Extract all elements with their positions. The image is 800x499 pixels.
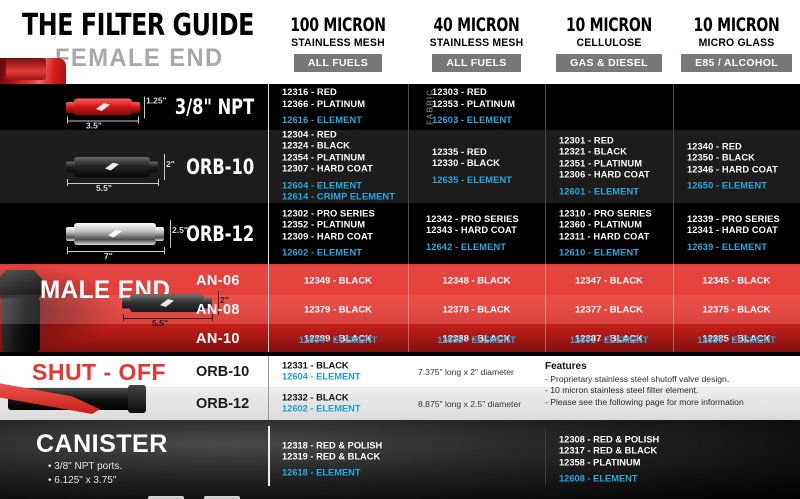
part-code-element: 12604 - ELEMENT: [282, 181, 395, 193]
part-code: 12347 - BLACK: [545, 275, 673, 286]
part-code: 12304 - RED: [282, 129, 395, 141]
element-cell-10-micron-micro-glass: 12650 - ELEMENT: [673, 335, 800, 352]
an08-row-content: AN-08 12379 - BLACK 12378 - BLACK 12377 …: [0, 295, 800, 324]
part-code-element: 12639 - ELEMENT: [687, 242, 780, 254]
column-material-label: STAINLESS MESH: [411, 37, 541, 49]
column-fuel-badge: ALL FUELS: [294, 54, 382, 72]
feature-item: - Please see the following page for more…: [545, 397, 744, 408]
column-micron-label: 10 MICRON: [557, 14, 662, 36]
features-block: Features - Proprietary stainless steel s…: [545, 361, 744, 408]
column-micron-label: 100 MICRON: [281, 14, 396, 36]
spec-item: • 3/8" NPT ports.: [48, 460, 122, 474]
column-micron-label: 40 MICRON: [420, 14, 532, 36]
part-code: 12318 - RED & POLISH: [282, 440, 382, 452]
column-header-40-micron: 40 MICRON STAINLESS MESH ALL FUELS: [408, 14, 545, 72]
dimension-diameter: 1.25": [146, 96, 167, 106]
part-code: 12350 - BLACK: [687, 152, 778, 164]
part-code: 12342 - PRO SERIES: [426, 214, 519, 226]
part-cell-100-micron: 12316 - RED 12366 - PLATINUM 12616 - ELE…: [268, 84, 408, 130]
male-element-row: 12604 - ELEMENT 12635 - ELEMENT 12601 - …: [0, 335, 800, 352]
product-cell: 3.5" 1.25" 3/8" NPT: [66, 84, 268, 130]
part-code: 12330 - BLACK: [432, 158, 512, 170]
part-cell-40-micron: 12348 - BLACK: [408, 266, 545, 295]
part-cell-10-micron-micro-glass: 12375 - BLACK: [673, 295, 800, 324]
canister-section: CANISTER • 3/8" NPT ports. • 6.125" x 3.…: [0, 420, 800, 499]
part-cell-shutoff: 12332 - BLACK 12602 - ELEMENT: [282, 392, 361, 415]
column-header-100-micron: 100 MICRON STAINLESS MESH ALL FUELS: [268, 14, 408, 72]
features-title: Features: [545, 361, 744, 372]
part-code-element: 12602 - ELEMENT: [282, 404, 361, 415]
filter-diagram-orb12: 7" 2.5": [74, 223, 156, 245]
page-header: THE FILTER GUIDE FEMALE END 100 MICRON S…: [0, 0, 800, 84]
part-code: 12321 - BLACK: [559, 147, 650, 159]
filter-guide-sheet: THE FILTER GUIDE FEMALE END 100 MICRON S…: [0, 0, 800, 499]
part-code-element: 12604 - ELEMENT: [268, 335, 408, 345]
part-code: 12360 - PLATINUM: [559, 219, 652, 231]
spec-item: • 6.125" x 3.75": [48, 474, 122, 488]
part-code-element: 12650 - ELEMENT: [687, 181, 778, 193]
part-code: 12317 - RED & BLACK: [559, 446, 659, 458]
part-code-element: 12601 - ELEMENT: [559, 186, 650, 198]
part-code-element: 12642 - ELEMENT: [426, 242, 519, 254]
element-cell-10-micron-cellulose: 12601 - ELEMENT: [545, 335, 673, 352]
column-header-10-micron-cellulose: 10 MICRON CELLULOSE GAS & DIESEL: [545, 14, 673, 72]
part-code-element: 12603 - ELEMENT: [432, 115, 515, 127]
column-fuel-badge: ALL FUELS: [432, 54, 520, 72]
part-code-element: 12635 - ELEMENT: [408, 335, 545, 345]
male-end-section: MALE END 5.5" 2" AN-06 12349 - BLACK 123…: [0, 264, 800, 352]
dimension-length: 5.5": [96, 183, 112, 193]
size-label: ORB-12: [196, 396, 249, 412]
part-code-element: 12616 - ELEMENT: [282, 115, 365, 127]
product-cell: 5.5" 2" ORB-10: [66, 130, 268, 203]
part-code: 12345 - BLACK: [673, 275, 800, 286]
size-label: AN-06: [196, 273, 240, 289]
part-code: 12377 - BLACK: [545, 304, 673, 315]
part-cell-40-micron: 12378 - BLACK: [408, 295, 545, 324]
table-row-orb10: 5.5" 2" ORB-10 12304 - RED 12324 - BLACK…: [0, 130, 800, 203]
part-code: 12316 - RED: [282, 87, 365, 99]
column-fuel-badge: E85 / ALCOHOL: [681, 54, 792, 72]
part-code-element: 12602 - ELEMENT: [282, 248, 375, 260]
part-code: 12306 - HARD COAT: [559, 170, 650, 182]
shutoff-section: SHUT - OFF ORB-10 12331 - BLACK 12604 - …: [0, 352, 800, 420]
part-code-element: 12650 - ELEMENT: [673, 335, 800, 345]
part-cell-100-micron: 12318 - RED & POLISH 12319 - RED & BLACK…: [268, 420, 408, 499]
part-cell-40-micron: 12342 - PRO SERIES 12343 - HARD COAT 126…: [408, 203, 545, 264]
column-material-label: STAINLESS MESH: [272, 37, 405, 49]
part-code: 12303 - RED: [432, 87, 515, 99]
feature-item: - Proprietary stainless steel shutoff va…: [545, 374, 744, 385]
dimension-length: 7": [104, 251, 113, 261]
part-code-element: 12610 - ELEMENT: [559, 248, 652, 260]
part-cell-10-micron-cellulose: 12377 - BLACK: [545, 295, 673, 324]
filter-diagram-npt: 3.5" 1.25": [74, 99, 132, 116]
table-row-npt: 3.5" 1.25" 3/8" NPT 12316 - RED 12366 - …: [0, 84, 800, 130]
part-cell-40-micron: FABRIC 12303 - RED 12353 - PLATINUM 1260…: [408, 84, 545, 130]
an06-row-content: AN-06 12349 - BLACK 12348 - BLACK 12347 …: [0, 266, 800, 295]
female-end-subtitle: FEMALE END: [55, 44, 224, 73]
part-code: 12331 - BLACK: [282, 360, 361, 371]
filter-diagram-orb10: 5.5" 2": [74, 157, 150, 177]
part-cell-100-micron: 12302 - PRO SERIES 12352 - PLATINUM 1230…: [268, 203, 408, 264]
canister-specs: • 3/8" NPT ports. • 6.125" x 3.75": [48, 460, 122, 487]
part-cell-100-micron: 12304 - RED 12324 - BLACK 12354 - PLATIN…: [268, 130, 408, 203]
part-code-element: 12604 - ELEMENT: [282, 372, 361, 383]
part-code-element: 12618 - ELEMENT: [282, 467, 382, 479]
part-code: 12309 - HARD COAT: [282, 231, 375, 243]
part-cell-10-micron-cellulose: 12308 - RED & POLISH 12317 - RED & BLACK…: [545, 420, 673, 499]
product-name: ORB-10: [186, 155, 254, 179]
column-header-10-micron-micro-glass: 10 MICRON MICRO GLASS E85 / ALCOHOL: [673, 14, 800, 72]
part-code: 12346 - HARD COAT: [687, 164, 778, 176]
product-name: 3/8" NPT: [175, 95, 254, 119]
part-code: 12352 - PLATINUM: [282, 219, 375, 231]
part-cell-10-micron-cellulose: 12347 - BLACK: [545, 266, 673, 295]
female-end-section: 3.5" 1.25" 3/8" NPT 12316 - RED 12366 - …: [0, 84, 800, 264]
product-cell: 7" 2.5" ORB-12: [66, 203, 268, 264]
table-row-orb12: 7" 2.5" ORB-12 12302 - PRO SERIES 12352 …: [0, 203, 800, 264]
size-label: ORB-10: [196, 364, 249, 380]
part-code: 12308 - RED & POLISH: [559, 434, 659, 446]
part-code: 12302 - PRO SERIES: [282, 208, 375, 220]
part-cell-10-micron-micro-glass: 12345 - BLACK: [673, 266, 800, 295]
part-code: 12311 - HARD COAT: [559, 231, 652, 243]
part-code: 12343 - HARD COAT: [426, 225, 519, 237]
page-title: THE FILTER GUIDE: [22, 8, 254, 43]
part-code: 12351 - PLATINUM: [559, 158, 650, 170]
part-cell-10-micron-cellulose: 12301 - RED 12321 - BLACK 12351 - PLATIN…: [545, 130, 673, 203]
column-micron-label: 10 MICRON: [684, 14, 788, 36]
part-cell-40-micron: 12335 - RED 12330 - BLACK 12635 - ELEMEN…: [408, 130, 545, 203]
part-code: 12332 - BLACK: [282, 392, 361, 403]
part-code: 12379 - BLACK: [268, 304, 408, 315]
part-code: 12366 - PLATINUM: [282, 99, 365, 111]
size-label: AN-08: [196, 302, 240, 318]
part-cell-10-micron-micro-glass: [673, 84, 800, 130]
part-code: 12310 - PRO SERIES: [559, 208, 652, 220]
part-code-element: 12635 - ELEMENT: [432, 175, 512, 187]
product-name: ORB-12: [186, 222, 254, 246]
part-code-element: 12608 - ELEMENT: [559, 473, 659, 485]
column-fuel-badge: GAS & DIESEL: [556, 54, 662, 72]
part-code: 12349 - BLACK: [268, 275, 408, 286]
part-code: 12319 - RED & BLACK: [282, 452, 382, 464]
element-cell-100-micron: 12604 - ELEMENT: [268, 335, 408, 352]
part-code: 12348 - BLACK: [408, 275, 545, 286]
part-code: 12324 - BLACK: [282, 141, 395, 153]
part-code: 12375 - BLACK: [673, 304, 800, 315]
part-cell-shutoff: 12331 - BLACK 12604 - ELEMENT: [282, 360, 361, 383]
part-cell-10-micron-cellulose: 12310 - PRO SERIES 12360 - PLATINUM 1231…: [545, 203, 673, 264]
part-code: 12335 - RED: [432, 147, 512, 159]
dimension-text: 7.375" long x 2" diameter: [418, 367, 514, 377]
part-cell-100-micron: 12379 - BLACK: [268, 295, 408, 324]
part-code: 12340 - RED: [687, 141, 778, 153]
part-cell-10-micron-micro-glass: 12339 - PRO SERIES 12341 - HARD COAT 126…: [673, 203, 800, 264]
part-code: 12341 - HARD COAT: [687, 225, 780, 237]
part-cell-10-micron-cellulose: [545, 84, 673, 130]
part-cell-100-micron: 12349 - BLACK: [268, 266, 408, 295]
dimension-diameter: 2": [166, 159, 175, 169]
part-code: 12339 - PRO SERIES: [687, 214, 780, 226]
part-code: 12358 - PLATINUM: [559, 458, 659, 470]
dimension-text: 8.875" long x 2.5" diameter: [418, 399, 521, 409]
column-material-label: MICRO GLASS: [676, 37, 797, 49]
part-code-element: 12601 - ELEMENT: [545, 335, 673, 345]
part-code: 12378 - BLACK: [408, 304, 545, 315]
part-code: 12301 - RED: [559, 135, 650, 147]
part-cell-10-micron-micro-glass: 12340 - RED 12350 - BLACK 12346 - HARD C…: [673, 130, 800, 203]
part-code: 12353 - PLATINUM: [432, 99, 515, 111]
part-code: 12307 - HARD COAT: [282, 164, 395, 176]
dimension-length: 3.5": [86, 121, 102, 131]
column-material-label: CELLULOSE: [548, 37, 670, 49]
feature-item: - 10 micron stainless steel filter eleme…: [545, 385, 744, 396]
part-code: 12354 - PLATINUM: [282, 152, 395, 164]
element-cell-40-micron: 12635 - ELEMENT: [408, 335, 545, 352]
canister-photos: [140, 428, 260, 498]
